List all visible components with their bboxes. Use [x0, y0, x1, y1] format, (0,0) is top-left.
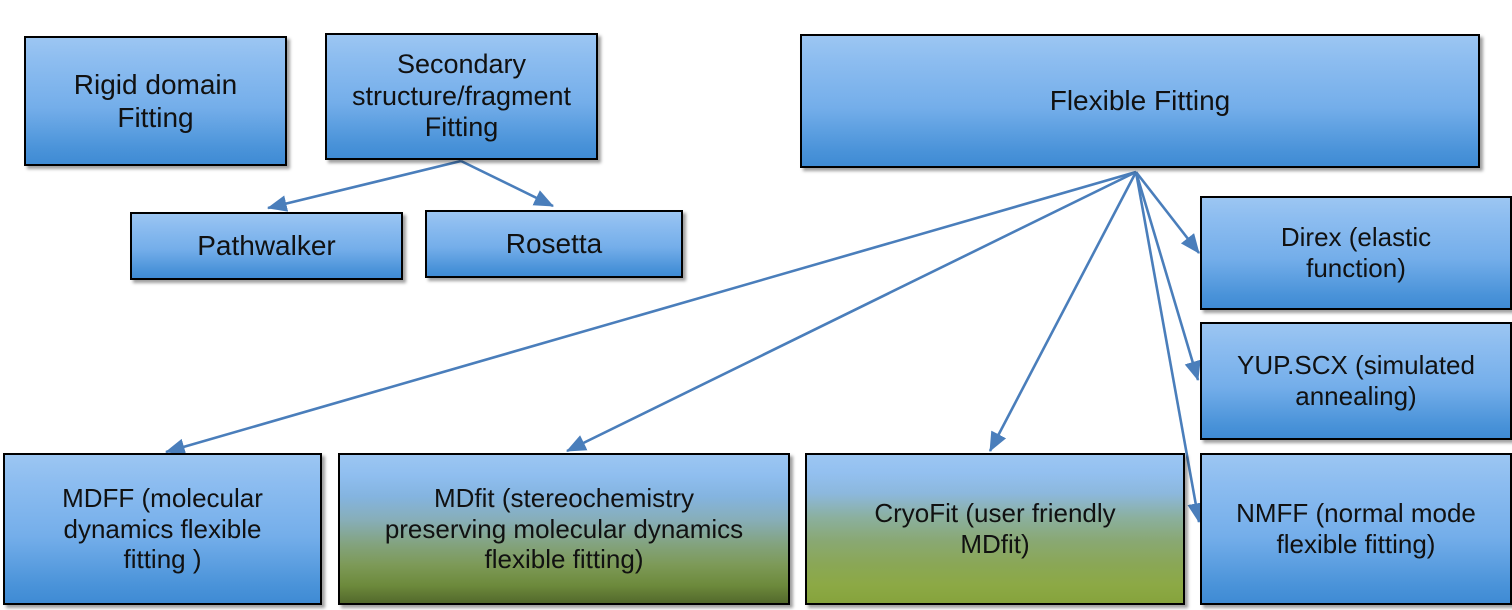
node-flexible-fitting[interactable]: Flexible Fitting [800, 34, 1480, 168]
node-rigid-domain-fitting[interactable]: Rigid domain Fitting [24, 36, 287, 166]
node-label: MDFF (molecular dynamics flexible fittin… [56, 483, 269, 575]
node-pathwalker[interactable]: Pathwalker [130, 212, 403, 280]
edge-flexible-to-cryofit [990, 172, 1136, 451]
edge-flexible-to-yupscx [1136, 172, 1198, 380]
node-label: Pathwalker [191, 229, 342, 262]
node-label: NMFF (normal mode flexible fitting) [1230, 498, 1482, 559]
node-direx[interactable]: Direx (elastic function) [1200, 196, 1512, 310]
node-nmff[interactable]: NMFF (normal mode flexible fitting) [1200, 453, 1512, 605]
node-label: Rosetta [500, 227, 609, 260]
node-mdfit[interactable]: MDfit (stereochemistry preserving molecu… [338, 453, 790, 605]
node-rosetta[interactable]: Rosetta [425, 210, 683, 278]
edge-secondary-to-pathwalker [268, 161, 461, 208]
node-cryofit[interactable]: CryoFit (user friendly MDfit) [805, 453, 1185, 605]
node-label: Flexible Fitting [1044, 84, 1237, 117]
node-secondary-structure-fragment-fitting[interactable]: Secondary structure/fragment Fitting [325, 33, 598, 160]
node-label: Direx (elastic function) [1275, 222, 1437, 283]
node-label: Rigid domain Fitting [68, 68, 243, 134]
node-label: YUP.SCX (simulated annealing) [1231, 350, 1481, 411]
edge-flexible-to-direx [1136, 172, 1199, 253]
node-label: Secondary structure/fragment Fitting [346, 49, 577, 145]
node-yupscx[interactable]: YUP.SCX (simulated annealing) [1200, 322, 1512, 440]
diagram-canvas: Rigid domain Fitting Secondary structure… [0, 0, 1512, 610]
edge-secondary-to-rosetta [461, 161, 553, 206]
node-label: CryoFit (user friendly MDfit) [868, 498, 1121, 559]
node-mdff[interactable]: MDFF (molecular dynamics flexible fittin… [3, 453, 322, 605]
node-label: MDfit (stereochemistry preserving molecu… [379, 483, 749, 575]
